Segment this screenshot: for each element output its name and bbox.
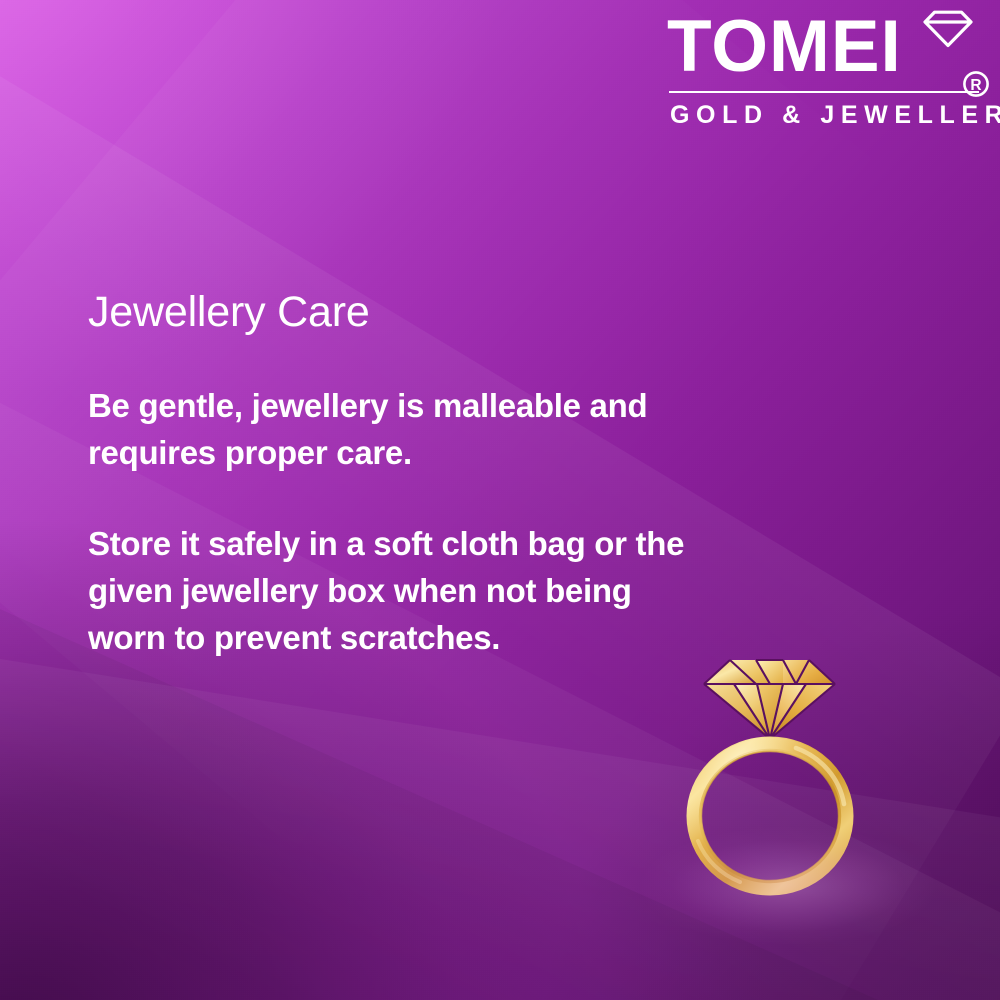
diamond-ring-illustration xyxy=(678,636,888,926)
diamond-ring-svg xyxy=(678,636,888,926)
care-paragraph-1: Be gentle, jewellery is malleable and re… xyxy=(88,382,688,476)
logo-tagline: GOLD & JEWELLERY xyxy=(670,98,1000,132)
registered-trademark-icon: R xyxy=(962,70,990,98)
brand-logo: TOMEI R GOLD & JEWELLERY xyxy=(655,8,987,86)
content-block: Jewellery Care Be gentle, jewellery is m… xyxy=(88,286,688,661)
diamond-outline-icon xyxy=(921,9,975,49)
logo-wordmark-row: TOMEI R xyxy=(655,8,987,86)
care-paragraph-2: Store it safely in a soft cloth bag or t… xyxy=(88,520,688,661)
diamond-gem xyxy=(704,660,835,739)
logo-wordmark: TOMEI xyxy=(667,8,902,86)
page-title: Jewellery Care xyxy=(88,286,688,338)
poster-canvas: TOMEI R GOLD & JEWELLERY Jewellery Care … xyxy=(0,0,1000,1000)
logo-divider-rule xyxy=(669,91,979,93)
gold-band xyxy=(694,744,846,888)
